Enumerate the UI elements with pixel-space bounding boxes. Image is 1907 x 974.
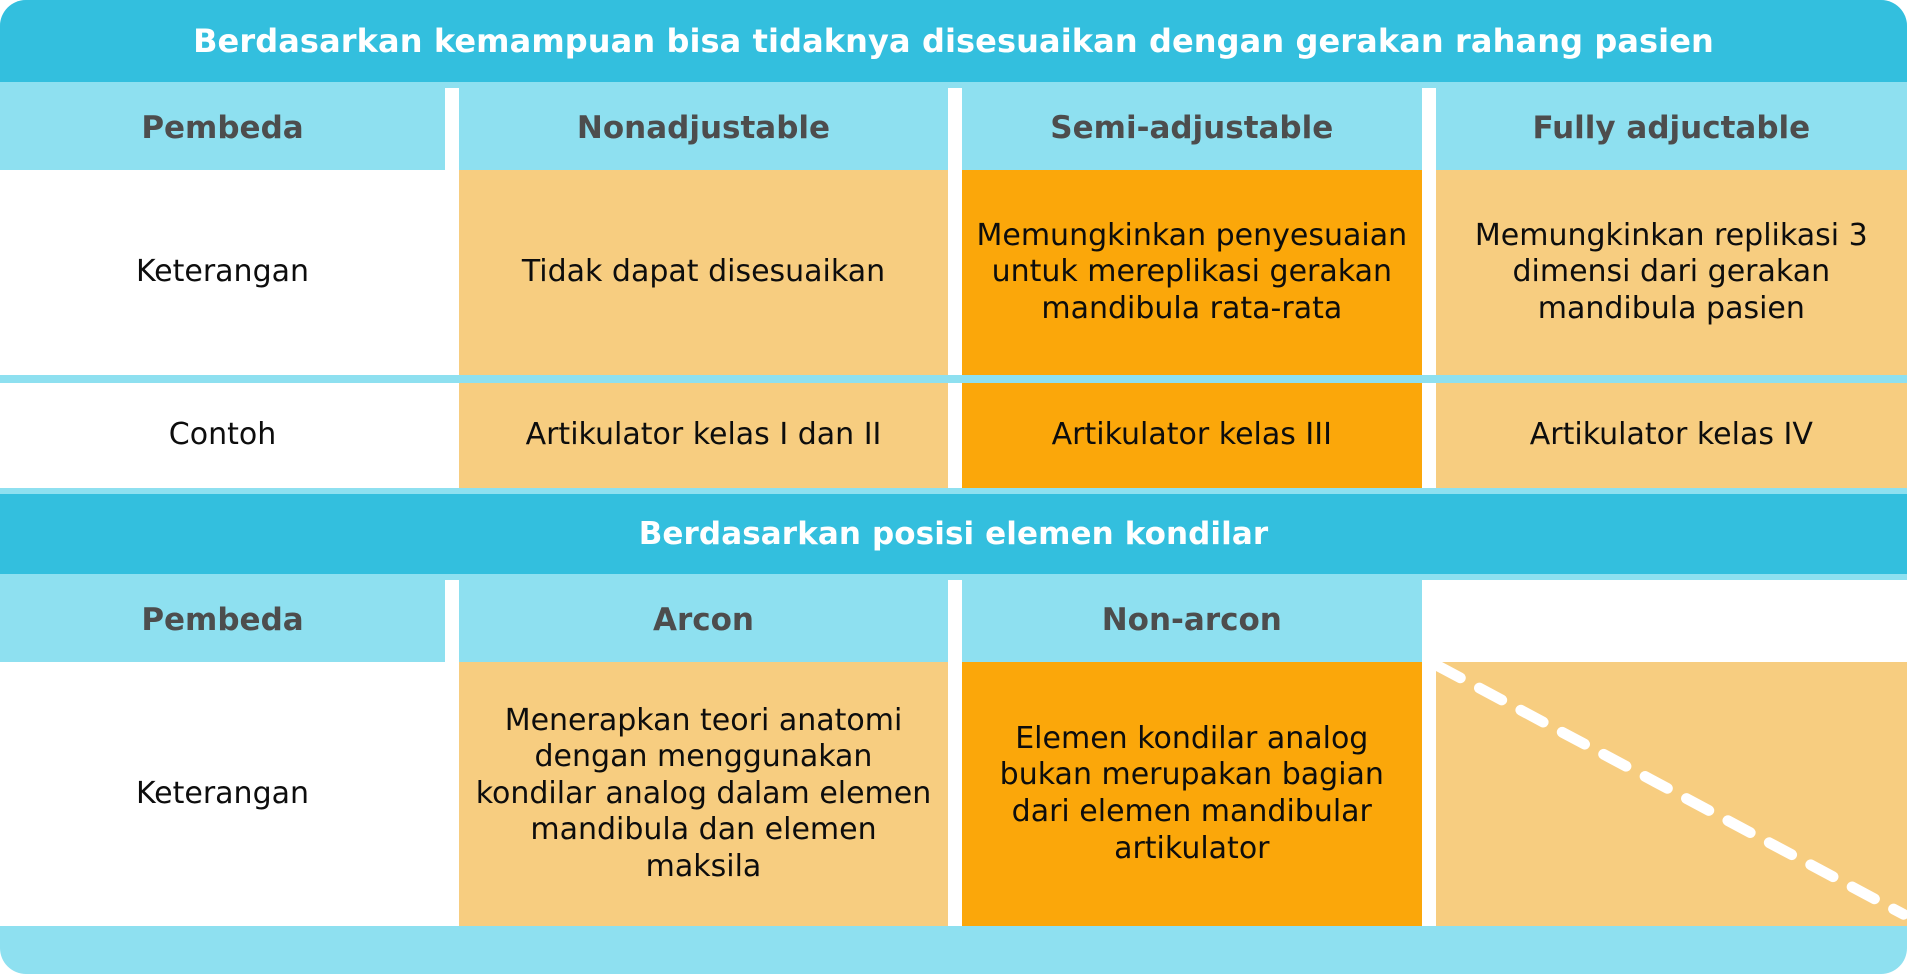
cell-non-arcon-keterangan: Elemen kondilar analog bukan merupakan b… (962, 662, 1422, 926)
cell-fully-adjuctable-contoh: Artikulator kelas IV (1436, 383, 1907, 488)
cell-empty-struck-out (1436, 662, 1907, 926)
header-cell-arcon: Arcon (459, 580, 948, 662)
header-cell-pembeda: Pembeda (0, 88, 445, 170)
divider-segment (962, 375, 1422, 383)
divider-segment (459, 375, 948, 383)
header-cell-nonadjustable: Nonadjustable (459, 88, 948, 170)
cell-semi-adjustable-keterangan: Memungkinkan penyesuaian untuk mereplika… (962, 170, 1422, 375)
divider-segment (1436, 375, 1907, 383)
header-cell-semi-adjustable: Semi-adjustable (962, 88, 1422, 170)
column-gap (948, 383, 962, 488)
row-divider (0, 375, 1907, 383)
cell-nonadjustable-keterangan: Tidak dapat disesuaikan (459, 170, 948, 375)
column-gap (445, 580, 459, 662)
header-row-1: Pembeda Nonadjustable Semi-adjustable Fu… (0, 88, 1907, 170)
table-row: Keterangan Tidak dapat disesuaikan Memun… (0, 170, 1907, 375)
column-gap (1422, 580, 1436, 662)
section-banner-2: Berdasarkan posisi elemen kondilar (0, 494, 1907, 574)
table-row: Contoh Artikulator kelas I dan II Artiku… (0, 383, 1907, 488)
header-row-2: Pembeda Arcon Non-arcon (0, 580, 1907, 662)
column-gap (948, 662, 962, 926)
column-gap (1422, 383, 1436, 488)
row-label-contoh: Contoh (0, 383, 445, 488)
column-gap (445, 88, 459, 170)
diagonal-dashed-strike-icon (1436, 662, 1907, 920)
header-cell-fully-adjuctable: Fully adjuctable (1436, 88, 1907, 170)
cell-arcon-keterangan: Menerapkan teori anatomi dengan mengguna… (459, 662, 948, 926)
divider-segment (1422, 375, 1436, 383)
header-cell-non-arcon: Non-arcon (962, 580, 1422, 662)
column-gap (445, 383, 459, 488)
column-gap (948, 170, 962, 375)
comparison-table: Berdasarkan kemampuan bisa tidaknya dise… (0, 0, 1907, 974)
header-cell-pembeda-2: Pembeda (0, 580, 445, 662)
divider-segment (0, 375, 445, 383)
column-gap (1422, 170, 1436, 375)
divider-segment (948, 375, 962, 383)
cell-nonadjustable-contoh: Artikulator kelas I dan II (459, 383, 948, 488)
column-gap (948, 88, 962, 170)
section-banner-1: Berdasarkan kemampuan bisa tidaknya dise… (0, 0, 1907, 82)
cell-semi-adjustable-contoh: Artikulator kelas III (962, 383, 1422, 488)
column-gap (445, 170, 459, 375)
row-label-keterangan-2: Keterangan (0, 662, 445, 926)
cell-fully-adjuctable-keterangan: Memungkinkan replikasi 3 dimensi dari ge… (1436, 170, 1907, 375)
header-cell-empty (1436, 580, 1907, 662)
table-row: Keterangan Menerapkan teori anatomi deng… (0, 662, 1907, 926)
column-gap (445, 662, 459, 926)
column-gap (1422, 662, 1436, 926)
column-gap (1422, 88, 1436, 170)
divider-segment (445, 375, 459, 383)
column-gap (948, 580, 962, 662)
row-label-keterangan: Keterangan (0, 170, 445, 375)
